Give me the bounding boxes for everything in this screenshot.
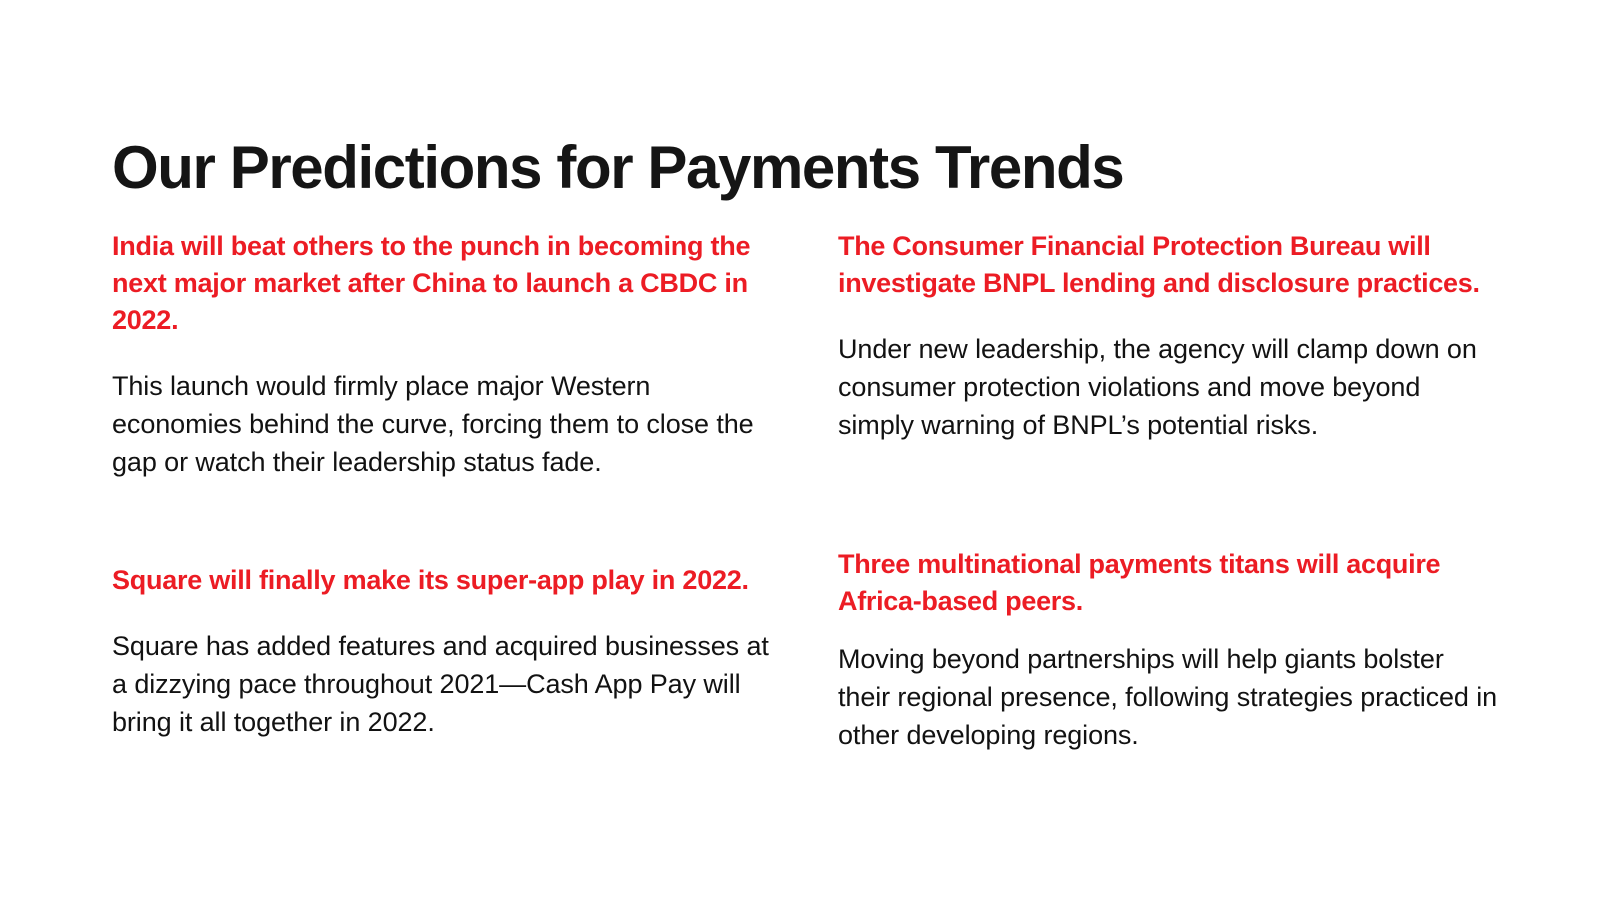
prediction-body: Moving beyond partnerships will help gia… [838, 640, 1498, 754]
presentation-slide: Our Predictions for Payments Trends Indi… [0, 0, 1600, 900]
page-title: Our Predictions for Payments Trends [112, 132, 1492, 204]
spacer [838, 620, 1498, 640]
predictions-grid: India will beat others to the punch in b… [112, 228, 1504, 754]
prediction-card-cfpb-bnpl: The Consumer Financial Protection Bureau… [838, 228, 1498, 528]
prediction-body: This launch would firmly place major Wes… [112, 367, 772, 481]
prediction-card-india-cbdc: India will beat others to the punch in b… [112, 228, 772, 528]
prediction-body: Square has added features and acquired b… [112, 627, 772, 741]
spacer [112, 339, 772, 367]
prediction-headline: Square will finally make its super-app p… [112, 562, 772, 599]
prediction-headline: Three multinational payments titans will… [838, 546, 1498, 620]
prediction-headline: The Consumer Financial Protection Bureau… [838, 228, 1498, 302]
spacer [112, 599, 772, 627]
prediction-card-africa-acquisitions: Three multinational payments titans will… [838, 528, 1498, 754]
prediction-headline: India will beat others to the punch in b… [112, 228, 772, 339]
prediction-card-square-super-app: Square will finally make its super-app p… [112, 528, 772, 754]
spacer [838, 302, 1498, 330]
prediction-body: Under new leadership, the agency will cl… [838, 330, 1498, 444]
